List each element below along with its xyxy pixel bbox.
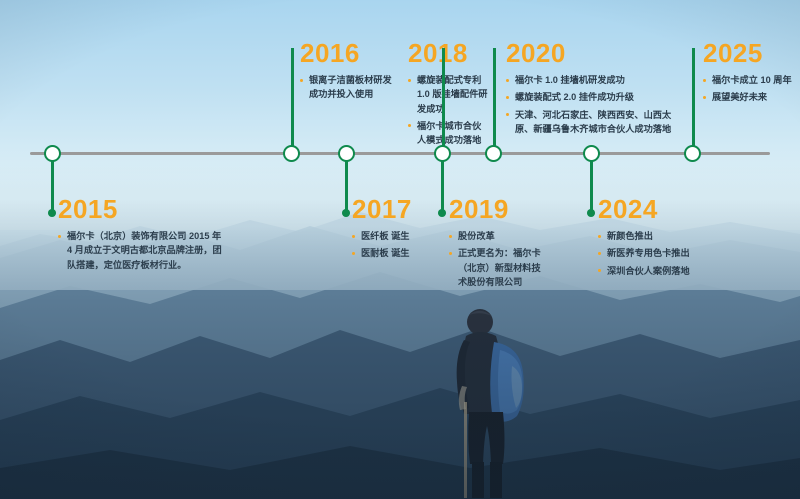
timeline-entry-2018: 2018 螺旋装配式专利 1.0 版挂墙配件研发成功 福尔卡城市合伙人模式成功落…	[408, 40, 488, 150]
year-label-2017: 2017	[352, 196, 430, 222]
stem-2019	[441, 160, 444, 214]
stem-2025	[692, 48, 695, 148]
timeline-entry-2024: 2024 新颜色推出 新医养专用色卡推出 深圳合伙人案例落地	[598, 196, 708, 281]
year-label-2020: 2020	[506, 40, 682, 66]
timeline-node-2025[interactable]	[684, 145, 701, 162]
year-label-2018: 2018	[408, 40, 488, 66]
stem-2024	[590, 160, 593, 214]
year-label-2015: 2015	[58, 196, 223, 222]
timeline-node-2019[interactable]	[485, 145, 502, 162]
list-item: 天津、河北石家庄、陕西西安、山西太原、新疆乌鲁木齐城市合伙人成功落地	[506, 108, 682, 137]
list-item: 深圳合伙人案例落地	[598, 264, 708, 278]
stem-2020	[493, 48, 496, 148]
list-item: 福尔卡（北京）装饰有限公司 2015 年 4 月成立于文明古都北京品牌注册，团队…	[58, 229, 223, 272]
list-item: 福尔卡 1.0 挂墙机研发成功	[506, 73, 682, 87]
bullet-list-2025: 福尔卡成立 10 周年 展望美好未来	[703, 73, 795, 105]
bullet-list-2015: 福尔卡（北京）装饰有限公司 2015 年 4 月成立于文明古都北京品牌注册，团队…	[58, 229, 223, 272]
timeline-node-2020[interactable]	[583, 145, 600, 162]
year-label-2024: 2024	[598, 196, 708, 222]
list-item: 正式更名为：福尔卡（北京）新型材料技术股份有限公司	[449, 246, 541, 289]
list-item: 新颜色推出	[598, 229, 708, 243]
list-item: 医纤板 诞生	[352, 229, 430, 243]
bullet-list-2018: 螺旋装配式专利 1.0 版挂墙配件研发成功 福尔卡城市合伙人模式成功落地	[408, 73, 488, 147]
stem-2015	[51, 160, 54, 214]
year-label-2016: 2016	[300, 40, 392, 66]
year-label-2025: 2025	[703, 40, 795, 66]
timeline-entry-2025: 2025 福尔卡成立 10 周年 展望美好未来	[703, 40, 795, 108]
bullet-list-2020: 福尔卡 1.0 挂墙机研发成功 螺旋装配式 2.0 挂件成功升级 天津、河北石家…	[506, 73, 682, 136]
stem-2018	[442, 48, 445, 148]
timeline-node-2016[interactable]	[283, 145, 300, 162]
timeline-entry-2019: 2019 股份改革 正式更名为：福尔卡（北京）新型材料技术股份有限公司	[449, 196, 541, 292]
list-item: 螺旋装配式专利 1.0 版挂墙配件研发成功	[408, 73, 488, 116]
list-item: 银离子洁菌板材研发成功并投入使用	[300, 73, 392, 102]
list-item: 股份改革	[449, 229, 541, 243]
timeline-entry-2017: 2017 医纤板 诞生 医耐板 诞生	[352, 196, 430, 264]
list-item: 螺旋装配式 2.0 挂件成功升级	[506, 90, 682, 104]
bullet-list-2016: 银离子洁菌板材研发成功并投入使用	[300, 73, 392, 102]
bullet-list-2019: 股份改革 正式更名为：福尔卡（北京）新型材料技术股份有限公司	[449, 229, 541, 289]
timeline-node-2015[interactable]	[44, 145, 61, 162]
stem-2016	[291, 48, 294, 148]
timeline-axis	[30, 152, 770, 155]
list-item: 福尔卡成立 10 周年	[703, 73, 795, 87]
bullet-list-2017: 医纤板 诞生 医耐板 诞生	[352, 229, 430, 261]
timeline-node-2017[interactable]	[338, 145, 355, 162]
list-item: 医耐板 诞生	[352, 246, 430, 260]
timeline-entry-2020: 2020 福尔卡 1.0 挂墙机研发成功 螺旋装配式 2.0 挂件成功升级 天津…	[506, 40, 682, 139]
year-label-2019: 2019	[449, 196, 541, 222]
timeline-entry-2016: 2016 银离子洁菌板材研发成功并投入使用	[300, 40, 392, 105]
stem-2017	[345, 160, 348, 214]
bullet-list-2024: 新颜色推出 新医养专用色卡推出 深圳合伙人案例落地	[598, 229, 708, 278]
timeline-entry-2015: 2015 福尔卡（北京）装饰有限公司 2015 年 4 月成立于文明古都北京品牌…	[58, 196, 223, 275]
list-item: 福尔卡城市合伙人模式成功落地	[408, 119, 488, 148]
list-item: 新医养专用色卡推出	[598, 246, 708, 260]
timeline-node-2018[interactable]	[434, 145, 451, 162]
timeline-infographic: 2016 银离子洁菌板材研发成功并投入使用 2018 螺旋装配式专利 1.0 版…	[0, 0, 800, 499]
list-item: 展望美好未来	[703, 90, 795, 104]
